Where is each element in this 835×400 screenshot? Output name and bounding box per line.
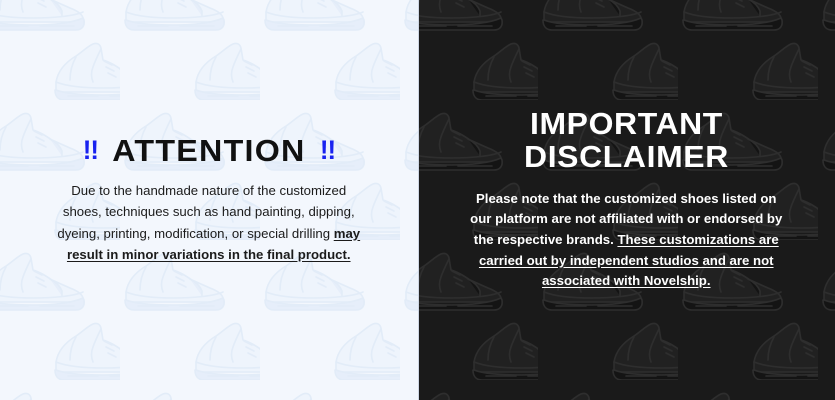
- attention-body-normal: Due to the handmade nature of the custom…: [57, 183, 354, 241]
- disclaimer-heading-line-2: DISCLAIMER: [524, 141, 729, 173]
- attention-content: !! ATTENTION !! Due to the handmade natu…: [0, 0, 418, 400]
- disclaimer-heading-line-1: IMPORTANT: [524, 108, 729, 140]
- attention-heading: !! ATTENTION !!: [82, 135, 336, 166]
- attention-heading-word: ATTENTION: [112, 135, 305, 166]
- disclaimer-panel: IMPORTANT DISCLAIMER Please note that th…: [418, 0, 835, 400]
- disclaimer-body-text: Please note that the customized shoes li…: [465, 189, 787, 292]
- disclaimer-heading: IMPORTANT DISCLAIMER: [524, 108, 729, 172]
- disclaimer-banner: !! ATTENTION !! Due to the handmade natu…: [0, 0, 835, 400]
- disclaimer-content: IMPORTANT DISCLAIMER Please note that th…: [418, 0, 835, 400]
- exclamation-icon-right: !!: [320, 137, 335, 164]
- attention-body-text: Due to the handmade nature of the custom…: [53, 180, 365, 266]
- exclamation-icon-left: !!: [83, 137, 98, 164]
- panel-divider: [418, 0, 419, 400]
- attention-panel: !! ATTENTION !! Due to the handmade natu…: [0, 0, 418, 400]
